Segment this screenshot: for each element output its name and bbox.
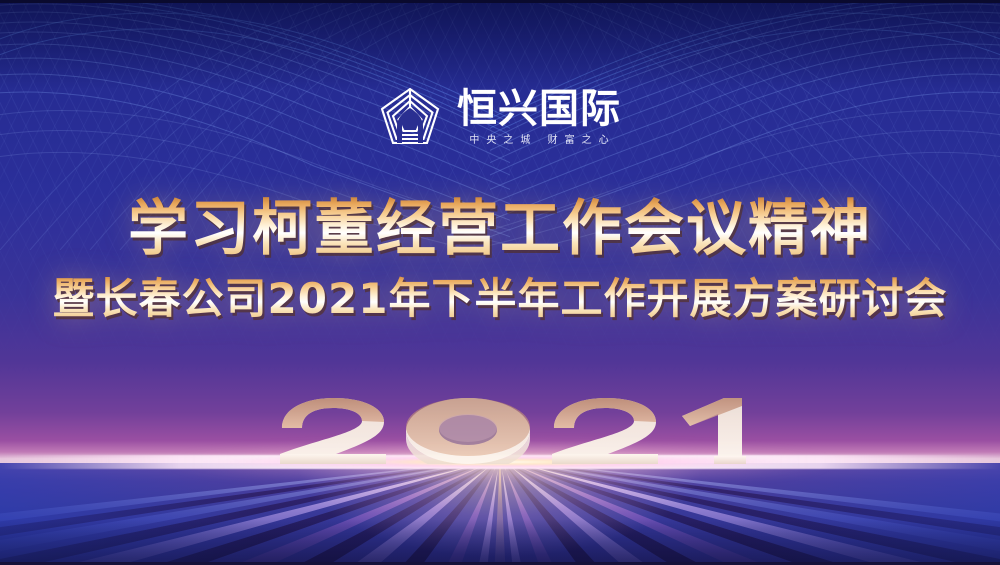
brand-logo-block: 恒兴国际 中央之城 财富之心 bbox=[0, 86, 1000, 148]
sub-title: 暨长春公司2021年下半年工作开展方案研讨会 bbox=[53, 274, 948, 324]
main-title: 学习柯董经营工作会议精神 bbox=[128, 196, 872, 262]
year-2021-graphic bbox=[0, 392, 1000, 464]
brand-tagline: 中央之城 财富之心 bbox=[462, 135, 615, 147]
banner-canvas: 恒兴国际 中央之城 财富之心 学习柯董经营工作会议精神 暨长春公司2021年下半… bbox=[0, 0, 1000, 565]
top-edge-band bbox=[0, 0, 1000, 3]
brand-name: 恒兴国际 bbox=[457, 88, 621, 130]
pentagon-chevron-logo-icon bbox=[379, 86, 441, 148]
title-block: 学习柯董经营工作会议精神 暨长春公司2021年下半年工作开展方案研讨会 bbox=[0, 196, 1000, 324]
brand-wordmark: 恒兴国际 中央之城 财富之心 bbox=[457, 88, 621, 147]
